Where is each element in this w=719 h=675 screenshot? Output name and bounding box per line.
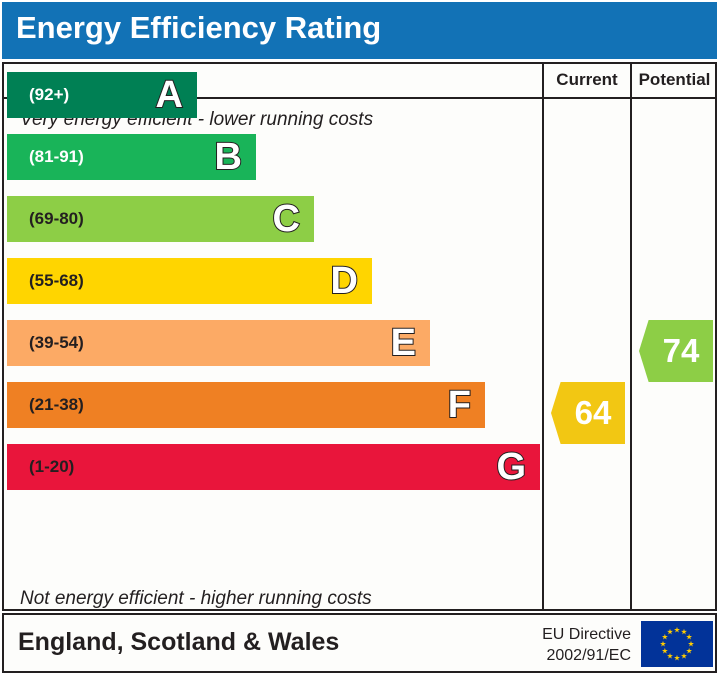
- rating-band-f: (21-38)F: [7, 382, 485, 428]
- band-letter-a: A: [156, 76, 183, 114]
- rating-band-g: (1-20)G: [7, 444, 540, 490]
- band-letter-c: C: [273, 200, 300, 238]
- title-bar: Energy Efficiency Rating: [2, 2, 717, 59]
- band-letter-f: F: [448, 386, 471, 424]
- band-range-label: (39-54): [29, 333, 84, 353]
- epc-certificate: Energy Efficiency Rating Current Potenti…: [0, 0, 719, 675]
- rating-band-a: (92+)A: [7, 72, 197, 118]
- rating-band-b: (81-91)B: [7, 134, 256, 180]
- band-range-label: (1-20): [29, 457, 74, 477]
- directive-line-1: EU Directive: [519, 625, 631, 646]
- rating-band-d: (55-68)D: [7, 258, 372, 304]
- band-range-label: (81-91): [29, 147, 84, 167]
- directive-line-2: 2002/91/EC: [519, 646, 631, 667]
- rating-band-c: (69-80)C: [7, 196, 314, 242]
- band-letter-g: G: [496, 448, 526, 486]
- band-range-label: (55-68): [29, 271, 84, 291]
- rating-bands: (92+)A(81-91)B(69-80)C(55-68)D(39-54)E(2…: [4, 64, 542, 609]
- column-header-potential: Potential: [632, 70, 717, 90]
- band-range-label: (69-80): [29, 209, 84, 229]
- eu-flag-icon: [641, 621, 713, 667]
- column-header-current: Current: [544, 70, 630, 90]
- band-letter-e: E: [391, 324, 416, 362]
- footer-region-label: England, Scotland & Wales: [18, 628, 339, 657]
- rating-band-e: (39-54)E: [7, 320, 430, 366]
- rating-table: Current Potential Very energy efficient …: [2, 62, 717, 611]
- band-letter-d: D: [331, 262, 358, 300]
- column-divider-current: [542, 64, 544, 609]
- band-range-label: (92+): [29, 85, 69, 105]
- page-title: Energy Efficiency Rating: [16, 10, 381, 46]
- band-range-label: (21-38): [29, 395, 84, 415]
- footer-directive-label: EU Directive 2002/91/EC: [519, 625, 631, 667]
- rating-marker-current: 64: [551, 382, 625, 444]
- rating-marker-potential: 74: [639, 320, 713, 382]
- footer-bar: England, Scotland & Wales EU Directive 2…: [2, 613, 717, 673]
- band-letter-b: B: [215, 138, 242, 176]
- column-divider-potential: [630, 64, 632, 609]
